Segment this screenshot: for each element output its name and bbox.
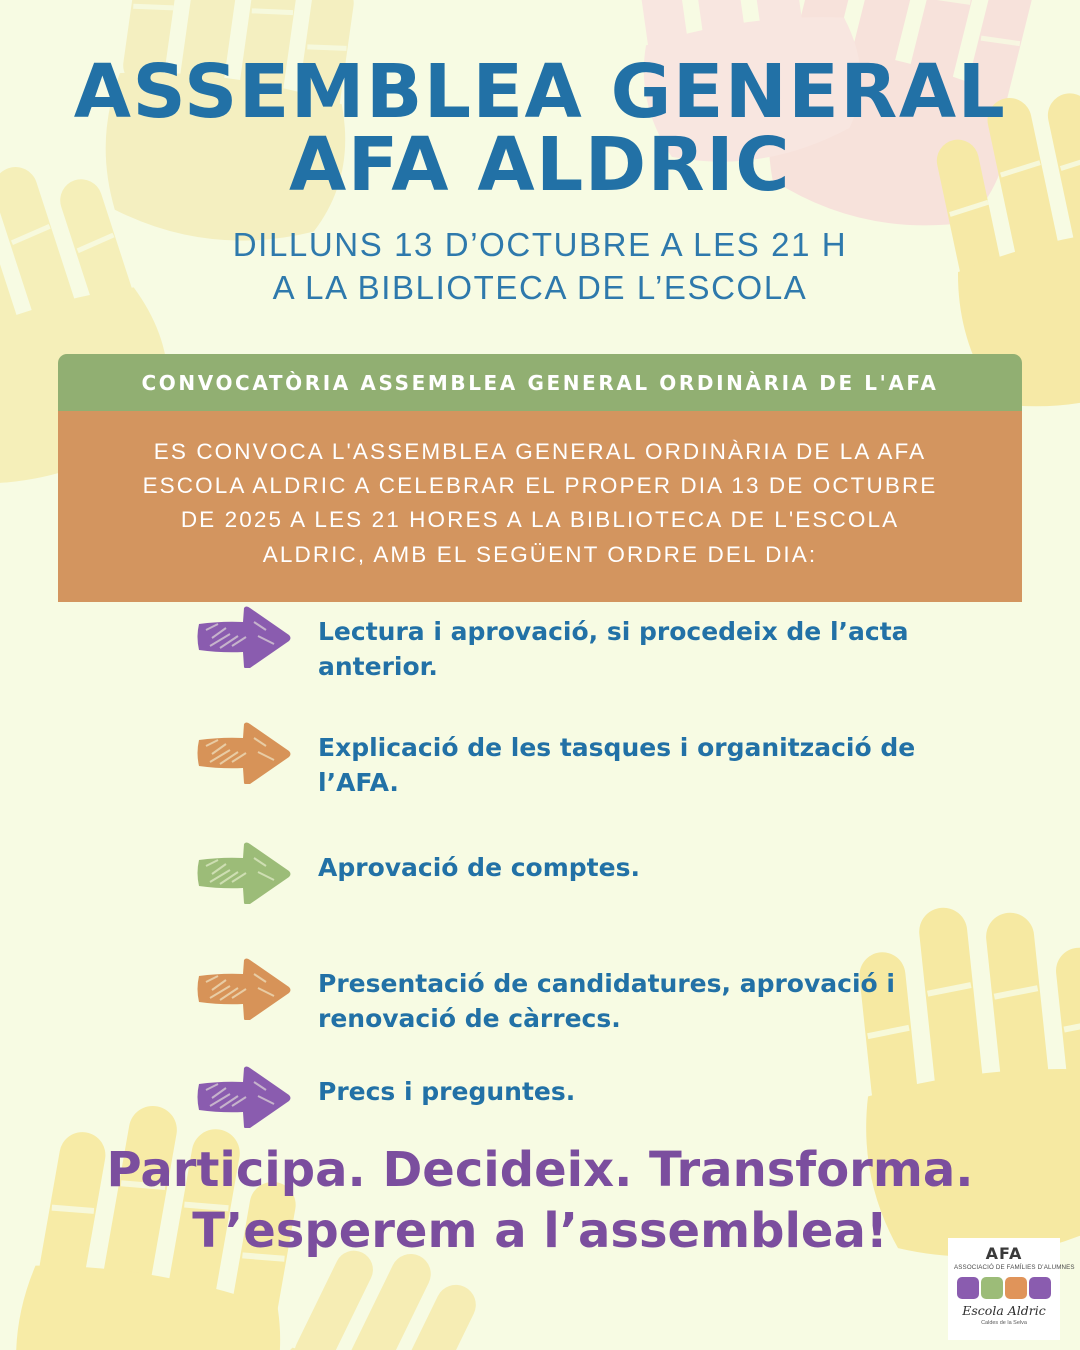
title-block: ASSEMBLEA GENERAL AFA ALDRIC DILLUNS 13 … bbox=[0, 56, 1080, 310]
list-item: Precs i preguntes. bbox=[196, 1064, 996, 1136]
logo-swatch-row bbox=[954, 1277, 1054, 1299]
agenda-item-label: Aprovació de comptes. bbox=[318, 840, 640, 885]
logo-swatch-purple-1 bbox=[957, 1277, 979, 1299]
agenda-item-label: Precs i preguntes. bbox=[318, 1064, 575, 1109]
arrow-right-icon bbox=[196, 958, 292, 1020]
subtitle-line-2: A LA BIBLIOTECA DE L’ESCOLA bbox=[0, 266, 1080, 310]
logo-school-subtitle: Caldes de la Selva bbox=[954, 1321, 1054, 1327]
poster-root: ASSEMBLEA GENERAL AFA ALDRIC DILLUNS 13 … bbox=[0, 0, 1080, 1350]
tagline-line-2: T’esperem a l’assemblea! bbox=[0, 1201, 1080, 1262]
banner-body-bar: ES CONVOCA L'ASSEMBLEA GENERAL ORDINÀRIA… bbox=[58, 411, 1022, 602]
arrow-right-icon bbox=[196, 606, 292, 668]
banner-heading-bar: CONVOCATÒRIA ASSEMBLEA GENERAL ORDINÀRIA… bbox=[58, 354, 1022, 411]
agenda-item-label: Presentació de candidatures, aprovació i… bbox=[318, 956, 958, 1036]
agenda-item-label: Lectura i aprovació, si procedeix de l’a… bbox=[318, 604, 958, 684]
logo-school-script: Escola Aldric bbox=[954, 1305, 1054, 1318]
subtitle: DILLUNS 13 D’OCTUBRE A LES 21 H A LA BIB… bbox=[0, 223, 1080, 310]
list-item: Lectura i aprovació, si procedeix de l’a… bbox=[196, 604, 996, 684]
convocatoria-banner: CONVOCATÒRIA ASSEMBLEA GENERAL ORDINÀRIA… bbox=[58, 354, 1022, 602]
logo-acronym: AFA bbox=[954, 1246, 1054, 1262]
banner-heading-text: CONVOCATÒRIA ASSEMBLEA GENERAL ORDINÀRIA… bbox=[74, 371, 1006, 395]
banner-body-text: ES CONVOCA L'ASSEMBLEA GENERAL ORDINÀRIA… bbox=[84, 435, 996, 572]
title-line-2: AFA ALDRIC bbox=[0, 129, 1080, 202]
list-item: Explicació de les tasques i organització… bbox=[196, 720, 996, 800]
afa-logo: AFA ASSOCIACIÓ DE FAMÍLIES D’ALUMNES Esc… bbox=[948, 1238, 1060, 1340]
arrow-right-icon bbox=[196, 1066, 292, 1128]
tagline-line-1: Participa. Decideix. Transforma. bbox=[107, 1142, 974, 1198]
agenda-item-label: Explicació de les tasques i organització… bbox=[318, 720, 958, 800]
list-item: Aprovació de comptes. bbox=[196, 840, 996, 912]
arrow-right-icon bbox=[196, 722, 292, 784]
logo-swatch-orange bbox=[1005, 1277, 1027, 1299]
agenda-list: Lectura i aprovació, si procedeix de l’a… bbox=[196, 604, 996, 1136]
subtitle-line-1: DILLUNS 13 D’OCTUBRE A LES 21 H bbox=[233, 226, 847, 263]
logo-full-name: ASSOCIACIÓ DE FAMÍLIES D’ALUMNES bbox=[954, 1265, 1054, 1271]
logo-swatch-purple-2 bbox=[1029, 1277, 1051, 1299]
closing-tagline: Participa. Decideix. Transforma. T’esper… bbox=[0, 1140, 1080, 1263]
logo-swatch-green bbox=[981, 1277, 1003, 1299]
list-item: Presentació de candidatures, aprovació i… bbox=[196, 956, 996, 1036]
page-title: ASSEMBLEA GENERAL AFA ALDRIC bbox=[0, 56, 1080, 203]
arrow-right-icon bbox=[196, 842, 292, 904]
